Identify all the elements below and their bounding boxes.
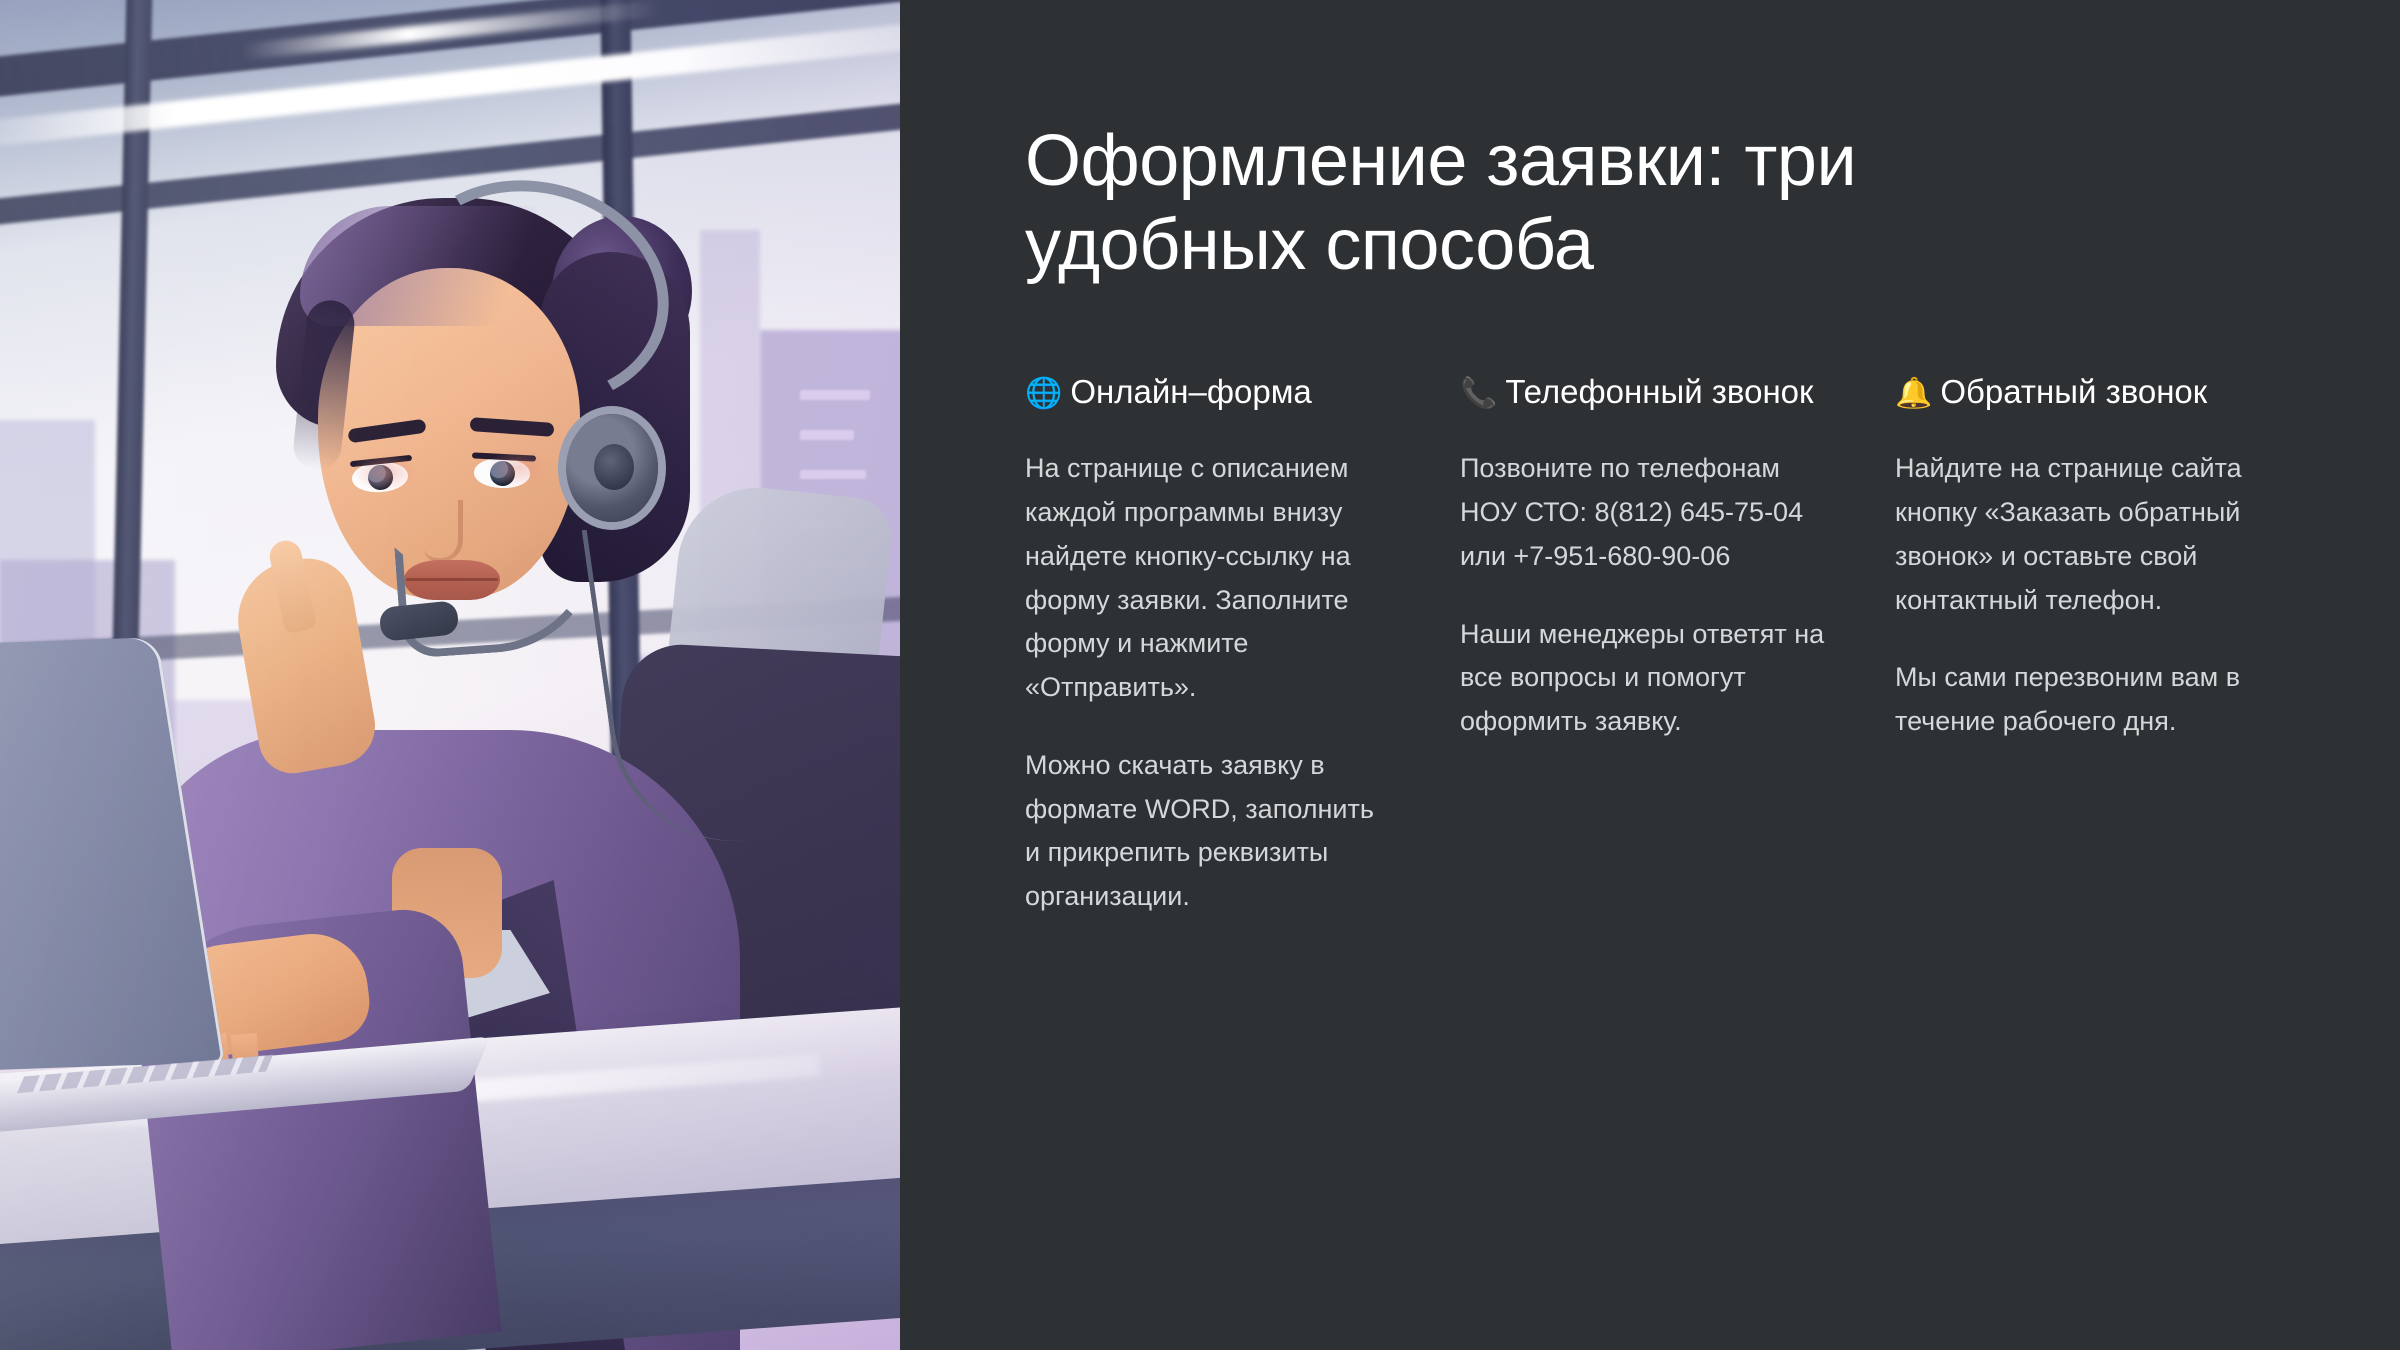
method-heading: 📞Телефонный звонок (1460, 371, 1830, 413)
bell-icon: 🔔 (1895, 375, 1932, 413)
method-paragraph: Можно скачать заявку в формате WORD, зап… (1025, 744, 1395, 919)
call-center-operator-illustration (0, 0, 900, 1350)
cheek-blush-left (352, 452, 418, 492)
method-paragraph: На странице с описанием каждой программы… (1025, 447, 1395, 709)
method-heading-text: Обратный звонок (1940, 373, 2207, 410)
method-paragraph: Мы сами перезвоним вам в течение рабочег… (1895, 656, 2265, 743)
content-panel: Оформление заявки: три удобных способа 🌐… (900, 0, 2400, 1350)
cheek-blush-right (486, 448, 552, 488)
method-column-callback: 🔔Обратный звонок Найдите на странице сай… (1895, 371, 2265, 744)
method-paragraph: Позвоните по телефонам НОУ СТО: 8(812) 6… (1460, 447, 1830, 578)
method-paragraph: Найдите на странице сайта кнопку «Заказа… (1895, 447, 2265, 622)
method-heading: 🌐Онлайн–форма (1025, 371, 1395, 413)
method-heading-text: Телефонный звонок (1505, 373, 1813, 410)
slide-root: Оформление заявки: три удобных способа 🌐… (0, 0, 2400, 1350)
method-column-online-form: 🌐Онлайн–форма На странице с описанием ка… (1025, 371, 1395, 919)
telephone-receiver-icon: 📞 (1460, 375, 1497, 413)
headset-earcup-center (594, 444, 634, 490)
globe-icon: 🌐 (1025, 375, 1062, 413)
methods-columns: 🌐Онлайн–форма На странице с описанием ка… (1025, 371, 2290, 919)
method-column-phone-call: 📞Телефонный звонок Позвоните по телефона… (1460, 371, 1830, 744)
method-heading-text: Онлайн–форма (1070, 373, 1311, 410)
page-title: Оформление заявки: три удобных способа (1025, 120, 2035, 287)
headset-microphone-boom (394, 533, 607, 659)
method-heading: 🔔Обратный звонок (1895, 371, 2265, 413)
method-paragraph: Наши менеджеры ответят на все вопросы и … (1460, 613, 1830, 744)
